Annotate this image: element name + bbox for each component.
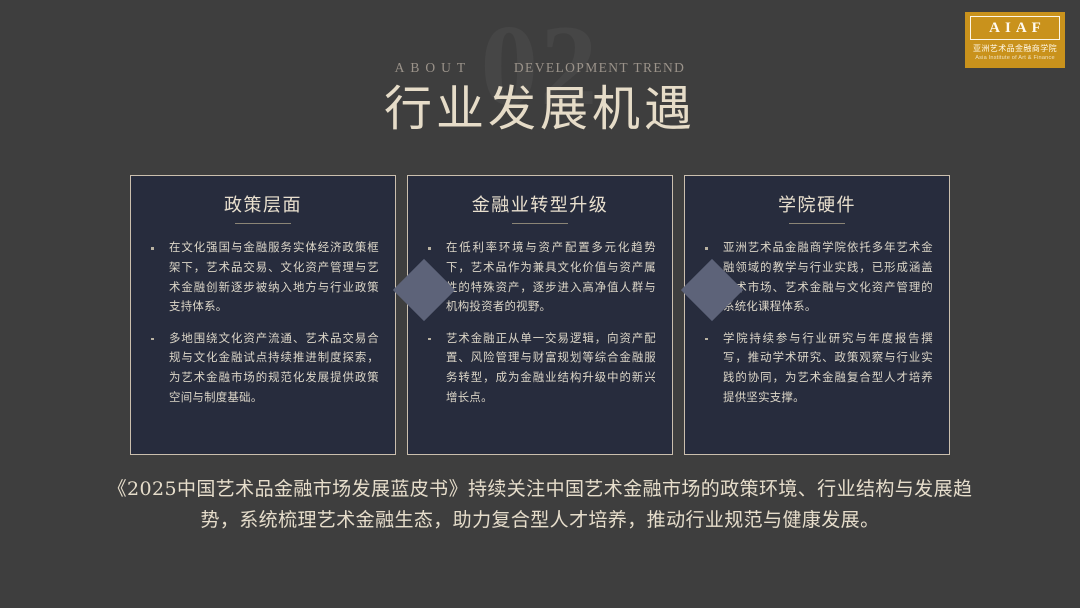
card-title: 学院硬件: [701, 194, 933, 217]
list-item: 多地围绕文化资产流通、艺术品交易合规与文化金融试点持续推进制度探索，为艺术金融市…: [147, 329, 379, 407]
page-title: 行业发展机遇: [0, 82, 1080, 137]
section-eyebrow: ABOUT DEVELOPMENT TREND: [0, 60, 1080, 76]
footer-summary: 《2025中国艺术品金融市场发展蓝皮书》持续关注中国艺术金融市场的政策环境、行业…: [90, 474, 990, 536]
slide-root: AIAF 亚洲艺术品金融商学院 Asia Institute of Art & …: [0, 0, 1080, 608]
card-policy: 政策层面 在文化强国与金融服务实体经济政策框架下，艺术品交易、文化资产管理与艺术…: [130, 175, 396, 455]
card-title-rule: [235, 223, 291, 224]
list-item: 学院持续参与行业研究与年度报告撰写，推动学术研究、政策观察与行业实践的协同，为艺…: [701, 329, 933, 407]
list-item: 在低利率环境与资产配置多元化趋势下，艺术品作为兼具文化价值与资产属性的特殊资产，…: [424, 238, 656, 316]
card-finance-upgrade: 金融业转型升级 在低利率环境与资产配置多元化趋势下，艺术品作为兼具文化价值与资产…: [407, 175, 673, 455]
cards-row: 政策层面 在文化强国与金融服务实体经济政策框架下，艺术品交易、文化资产管理与艺术…: [130, 175, 950, 455]
card-title-rule: [789, 223, 845, 224]
list-item: 艺术金融正从单一交易逻辑，向资产配置、风险管理与财富规划等综合金融服务转型，成为…: [424, 329, 656, 407]
card-title-rule: [512, 223, 568, 224]
eyebrow-about: ABOUT: [395, 60, 472, 75]
eyebrow-trend: DEVELOPMENT TREND: [514, 60, 685, 75]
list-item: 亚洲艺术品金融商学院依托多年艺术金融领域的教学与行业实践，已形成涵盖艺术市场、艺…: [701, 238, 933, 316]
card-title: 政策层面: [147, 194, 379, 217]
card-bullet-list: 在低利率环境与资产配置多元化趋势下，艺术品作为兼具文化价值与资产属性的特殊资产，…: [424, 238, 656, 407]
card-institute-capability: 学院硬件 亚洲艺术品金融商学院依托多年艺术金融领域的教学与行业实践，已形成涵盖艺…: [684, 175, 950, 455]
card-bullet-list: 在文化强国与金融服务实体经济政策框架下，艺术品交易、文化资产管理与艺术金融创新逐…: [147, 238, 379, 407]
card-title: 金融业转型升级: [424, 194, 656, 217]
list-item: 在文化强国与金融服务实体经济政策框架下，艺术品交易、文化资产管理与艺术金融创新逐…: [147, 238, 379, 316]
card-bullet-list: 亚洲艺术品金融商学院依托多年艺术金融领域的教学与行业实践，已形成涵盖艺术市场、艺…: [701, 238, 933, 407]
